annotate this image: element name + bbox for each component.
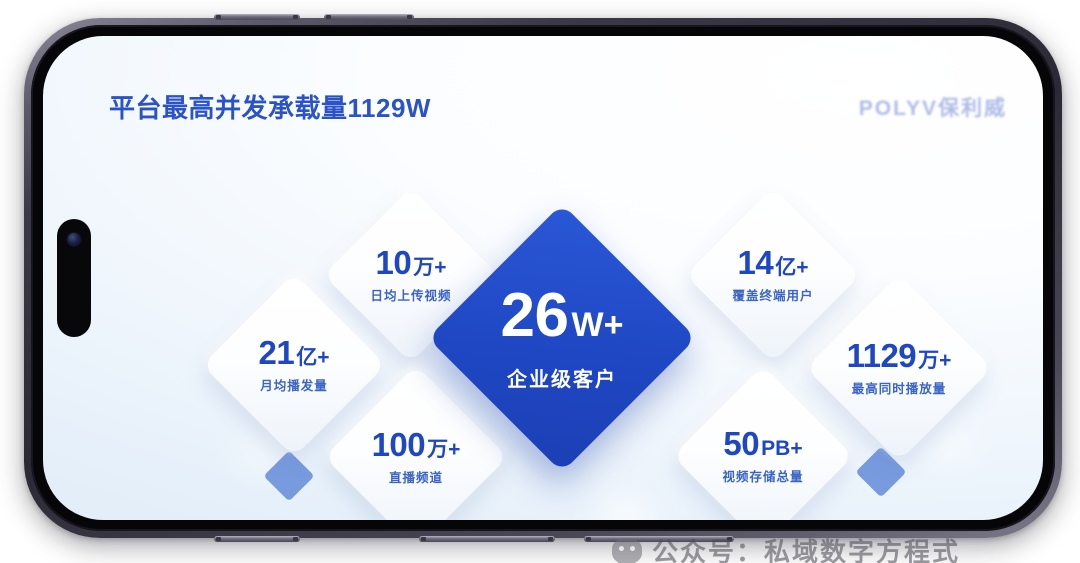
stat-value: 10 万+ [376, 246, 447, 279]
brand-logo: POLYV保利威 [859, 92, 1007, 122]
stat-label: 覆盖终端用户 [732, 285, 813, 304]
stat-value: 14 亿+ [738, 246, 809, 279]
screenshot-stage: 平台最高并发承载量1129W POLYV保利威 10 万+ 日均上传视频 [0, 0, 1080, 563]
page-title: 平台最高并发承载量1129W [109, 88, 431, 125]
stat-label: 月均播发量 [260, 375, 328, 394]
decorative-diamond [264, 451, 315, 502]
stat-unit: 亿+ [296, 347, 329, 368]
phone-device-frame: 平台最高并发承载量1129W POLYV保利威 10 万+ 日均上传视频 [24, 18, 1062, 538]
stat-value: 26 W+ [501, 285, 624, 347]
stat-number: 10 [376, 246, 412, 279]
stat-number: 1129 [847, 339, 917, 372]
stat-card-enterprise-customers: 26 W+ 企业级客户 [428, 204, 697, 473]
front-camera-icon [68, 233, 81, 246]
silent-switch[interactable] [214, 536, 300, 542]
stat-number: 26 [501, 285, 569, 347]
decorative-glow [599, 498, 653, 520]
volume-down-button[interactable] [324, 14, 414, 20]
stat-label: 直播频道 [389, 467, 443, 486]
stat-card-peak-concurrent-plays: 1129 万+ 最高同时播放量 [806, 275, 993, 462]
power-button[interactable] [419, 536, 555, 542]
stat-number: 50 [723, 427, 759, 460]
stat-unit: 万+ [918, 350, 951, 371]
watermark-text: 公众号：私域数字方程式 [652, 532, 960, 563]
stat-value: 100 万+ [372, 428, 461, 461]
stat-unit: 亿+ [775, 257, 808, 278]
stat-label: 视频存储总量 [722, 466, 803, 485]
stat-number: 21 [259, 336, 295, 369]
stat-value: 21 亿+ [259, 336, 330, 369]
wechat-official-account-icon [612, 538, 642, 563]
stat-unit: PB+ [761, 438, 802, 459]
infographic-slide: 平台最高并发承载量1129W POLYV保利威 10 万+ 日均上传视频 [43, 36, 1043, 520]
phone-bezel: 平台最高并发承载量1129W POLYV保利威 10 万+ 日均上传视频 [31, 25, 1055, 531]
stat-value: 1129 万+ [847, 339, 952, 372]
stat-label: 企业级客户 [507, 363, 617, 392]
stat-number: 14 [738, 246, 774, 279]
phone-screen: 平台最高并发承载量1129W POLYV保利威 10 万+ 日均上传视频 [43, 36, 1043, 520]
dynamic-island [57, 219, 91, 337]
stat-unit: 万+ [427, 439, 460, 460]
watermark: 公众号：私域数字方程式 [612, 532, 960, 563]
stat-number: 100 [372, 428, 426, 461]
stat-unit: 万+ [413, 257, 446, 278]
stat-value: 50 PB+ [723, 427, 802, 460]
stat-label: 日均上传视频 [370, 285, 451, 304]
volume-up-button[interactable] [214, 14, 300, 20]
stat-unit: W+ [572, 308, 624, 342]
stat-label: 最高同时播放量 [852, 378, 947, 397]
